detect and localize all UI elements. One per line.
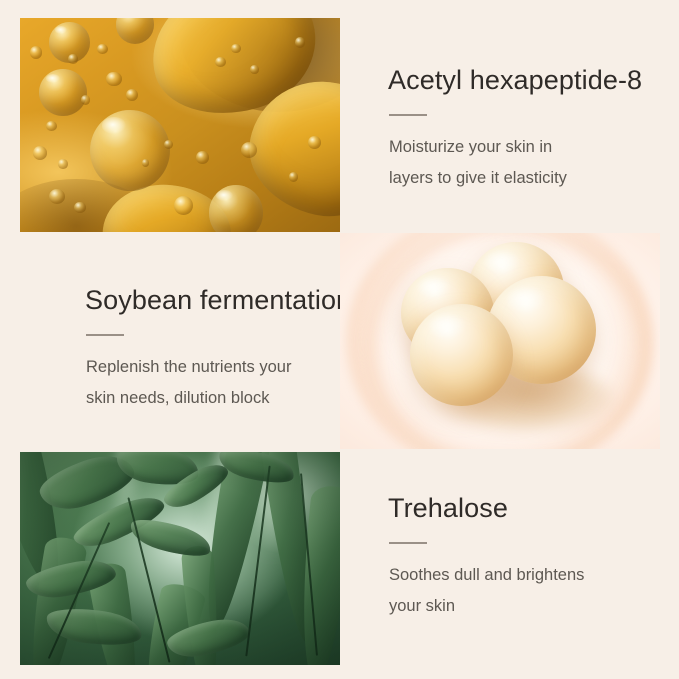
cream-spheres-image — [340, 233, 660, 449]
body-line: Soothes dull and brightens — [389, 560, 658, 591]
kelp-artwork — [20, 452, 340, 665]
oil-artwork — [20, 18, 340, 232]
body-trehalose: Soothes dull and brightens your skin — [389, 560, 658, 622]
cream-sphere-front — [410, 304, 512, 406]
oil-bubble — [142, 159, 150, 167]
body-line: Moisturize your skin in — [389, 132, 658, 163]
oil-bubble — [164, 140, 173, 149]
body-soybean-fermentation: Replenish the nutrients your skin needs,… — [86, 352, 365, 414]
body-line: layers to give it elasticity — [389, 163, 658, 194]
oil-bubble — [174, 196, 193, 215]
golden-oil-bubbles-image — [20, 18, 340, 232]
body-acetyl-hexapeptide-8: Moisturize your skin in layers to give i… — [389, 132, 658, 194]
oil-bubble — [46, 121, 57, 132]
oil-bubble — [58, 159, 68, 169]
divider-rule — [389, 114, 427, 116]
ingredient-benefits-page: Acetyl hexapeptide-8 Moisturize your ski… — [0, 0, 679, 679]
body-line: skin needs, dilution block — [86, 383, 365, 414]
oil-bubble — [30, 46, 43, 59]
divider-rule — [86, 334, 124, 336]
heading-soybean-fermentation: Soybean fermentation — [85, 284, 365, 316]
oil-bubble — [250, 65, 258, 74]
section-acetyl-hexapeptide-8: Acetyl hexapeptide-8 Moisturize your ski… — [388, 64, 658, 194]
oil-bubble — [289, 172, 299, 182]
divider-rule — [389, 542, 427, 544]
oil-bubble — [68, 54, 78, 64]
oil-bubble — [308, 136, 321, 149]
kelp-vignette — [20, 452, 340, 665]
oil-bubble — [49, 189, 65, 204]
oil-bubble — [241, 142, 257, 158]
body-line: Replenish the nutrients your — [86, 352, 365, 383]
oil-bubble — [231, 44, 241, 54]
oil-bubble — [196, 151, 209, 164]
heading-acetyl-hexapeptide-8: Acetyl hexapeptide-8 — [388, 64, 658, 96]
green-kelp-image — [20, 452, 340, 665]
section-soybean-fermentation: Soybean fermentation Replenish the nutri… — [85, 284, 365, 414]
body-line: your skin — [389, 591, 658, 622]
section-trehalose: Trehalose Soothes dull and brightens you… — [388, 492, 658, 622]
spheres-artwork — [340, 233, 660, 449]
oil-bubble — [74, 202, 85, 213]
oil-bubble — [81, 95, 91, 105]
heading-trehalose: Trehalose — [388, 492, 658, 524]
